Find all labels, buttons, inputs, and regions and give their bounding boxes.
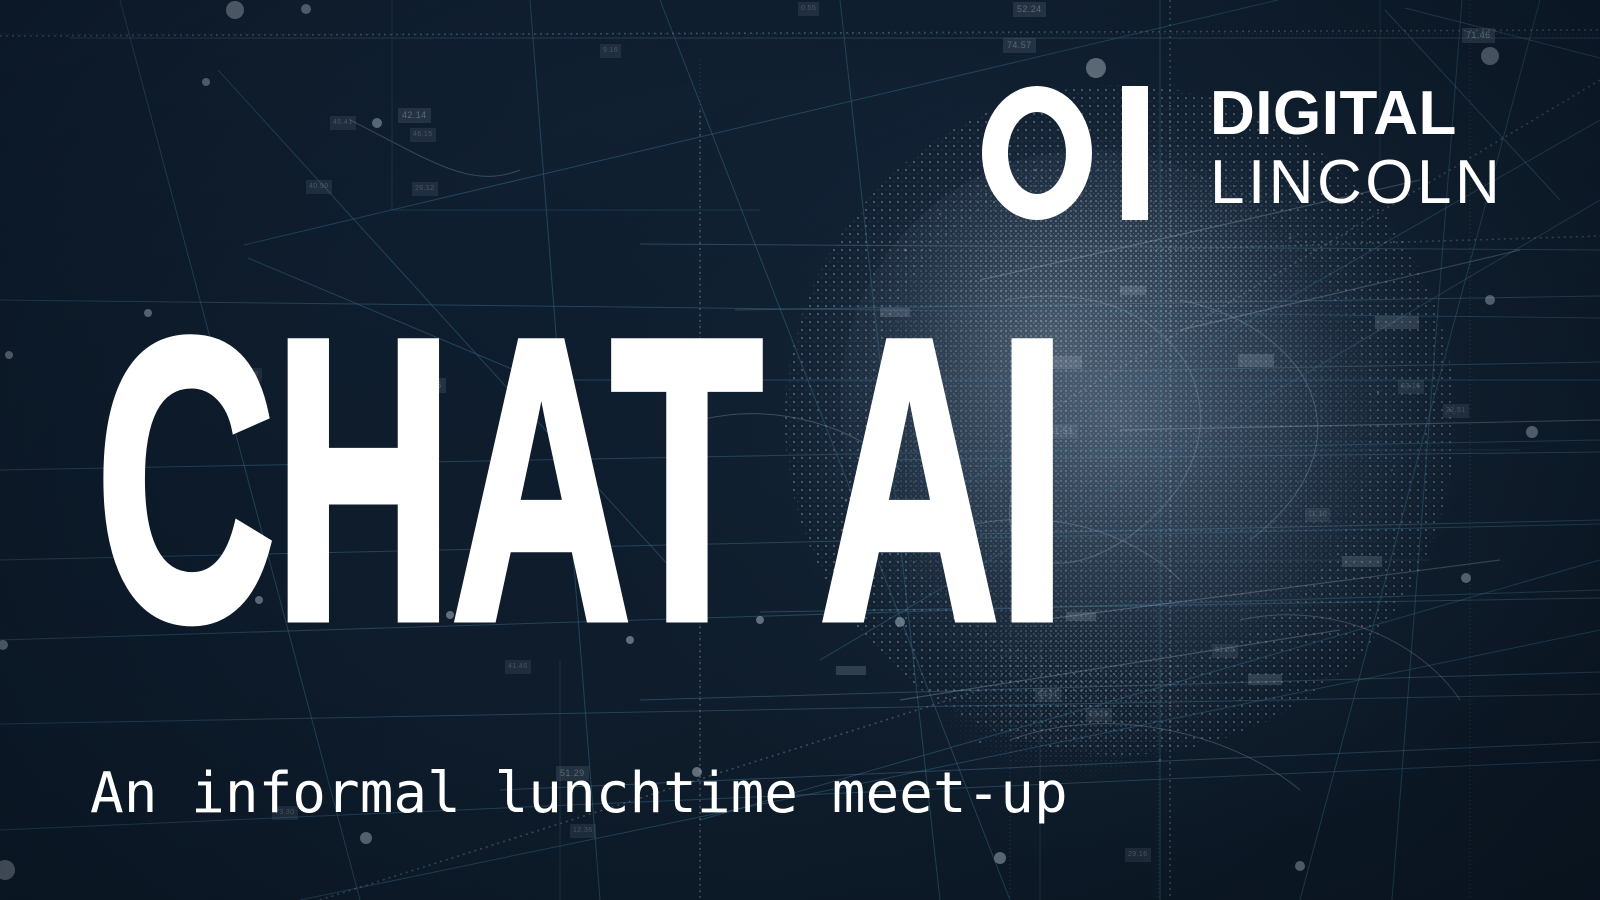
page-title: CHAT AI bbox=[96, 300, 1065, 660]
background-data-label: 71.46 bbox=[1462, 28, 1495, 43]
background-data-label: 11.10 bbox=[1305, 508, 1330, 522]
background-data-label: 74.57 bbox=[1003, 38, 1036, 53]
background-data-label: 42.14 bbox=[398, 108, 431, 123]
background-data-label: 40.90 bbox=[306, 180, 332, 194]
background-data-label: 0.55 bbox=[798, 2, 819, 16]
brand-wordmark: DIGITAL LINCOLN bbox=[1210, 84, 1510, 216]
background-data-label: 26.12 bbox=[412, 182, 438, 196]
logo-bar-shape bbox=[1122, 86, 1148, 220]
brand-line-lincoln: LINCOLN bbox=[1210, 150, 1510, 216]
background-data-label: 9.16 bbox=[600, 44, 621, 58]
subtitle: An informal lunchtime meet-up discussing… bbox=[90, 644, 1270, 900]
brand-line-digital: DIGITAL bbox=[1210, 84, 1510, 144]
background-data-label: 52.24 bbox=[1013, 2, 1046, 17]
logo-ring-shape bbox=[982, 86, 1092, 220]
background-data-label: 22.51 bbox=[1443, 404, 1469, 418]
oi-monogram-icon bbox=[982, 86, 1164, 226]
subtitle-line-1: An informal lunchtime meet-up bbox=[90, 764, 1270, 824]
background-data-label: 63.16 bbox=[1398, 380, 1424, 394]
event-banner: 52.2474.5771.469.160.5542.1446.1546.4140… bbox=[0, 0, 1600, 900]
background-data-label: 46.41 bbox=[330, 116, 356, 130]
background-data-label: 46.15 bbox=[410, 128, 436, 142]
brand-logo[interactable]: DIGITAL LINCOLN bbox=[982, 84, 1502, 230]
